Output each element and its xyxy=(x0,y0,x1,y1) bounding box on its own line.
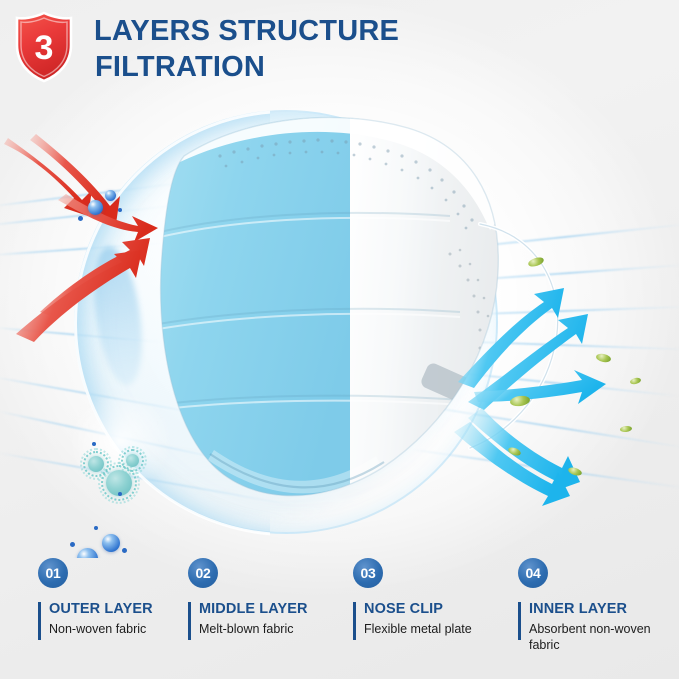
legend-badge-04: 04 xyxy=(518,558,548,588)
mask-illustration xyxy=(0,96,679,558)
legend-subtitle-04: Absorbent non-woven fabric xyxy=(529,621,658,653)
legend-title-02: MIDDLE LAYER xyxy=(199,600,338,618)
legend-subtitle-02: Melt-blown fabric xyxy=(199,621,338,637)
clean-air-arrows xyxy=(0,96,679,558)
legend-badge-02: 02 xyxy=(188,558,218,588)
legend-badge-03: 03 xyxy=(353,558,383,588)
legend-subtitle-03: Flexible metal plate xyxy=(364,621,508,637)
shield-number: 3 xyxy=(35,29,54,67)
legend-subtitle-01: Non-woven fabric xyxy=(49,621,183,637)
legend-item-nose-clip[interactable]: 03 NOSE CLIP Flexible metal plate xyxy=(353,558,508,637)
legend-title-01: OUTER LAYER xyxy=(49,600,183,618)
page-title: LAYERS STRUCTURE FILTRATION xyxy=(94,13,669,85)
legend-title-03: NOSE CLIP xyxy=(364,600,508,618)
legend-item-inner-layer[interactable]: 04 INNER LAYER Absorbent non-woven fabri… xyxy=(518,558,658,653)
header: 3 LAYERS STRUCTURE FILTRATION xyxy=(0,0,679,108)
legend-title-04: INNER LAYER xyxy=(529,600,658,618)
title-line-1: LAYERS STRUCTURE xyxy=(94,13,669,49)
legend-badge-01: 01 xyxy=(38,558,68,588)
legend-item-outer-layer[interactable]: 01 OUTER LAYER Non-woven fabric xyxy=(38,558,183,637)
legend-item-middle-layer[interactable]: 02 MIDDLE LAYER Melt-blown fabric xyxy=(188,558,338,637)
infographic-root: 3 LAYERS STRUCTURE FILTRATION xyxy=(0,0,679,679)
shield-icon: 3 xyxy=(13,11,75,83)
legend: 01 OUTER LAYER Non-woven fabric 02 MIDDL… xyxy=(0,558,679,679)
title-line-2: FILTRATION xyxy=(94,49,669,85)
